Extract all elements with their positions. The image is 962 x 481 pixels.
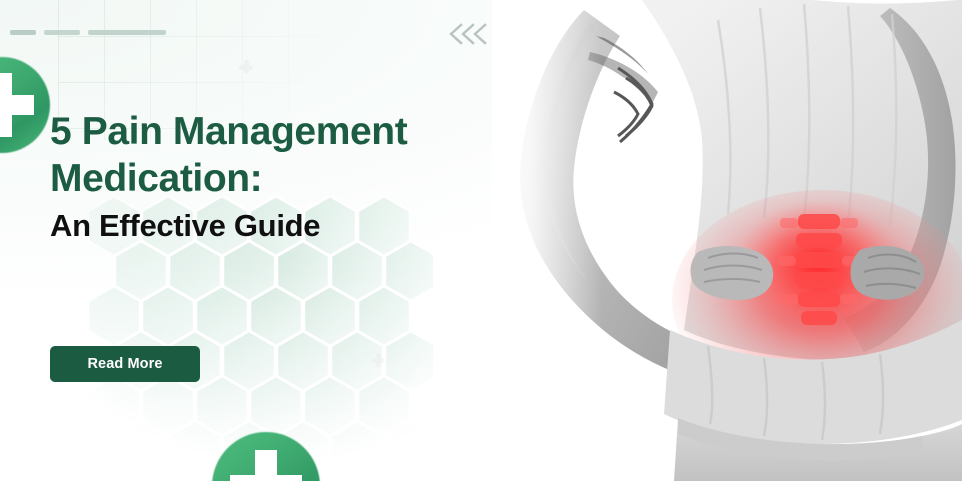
plus-icon: [371, 353, 385, 367]
cross-vertical: [255, 450, 277, 481]
read-more-button[interactable]: Read More: [50, 346, 200, 382]
plus-icon: [239, 60, 253, 74]
medical-cross-icon: [0, 57, 50, 153]
dashed-lines: [10, 29, 166, 35]
dash-icon: [10, 30, 36, 35]
cross-vertical: [0, 73, 12, 137]
dash-icon: [88, 30, 166, 35]
headline-line-1: 5 Pain Management: [50, 110, 407, 153]
medical-cross-icon: [212, 432, 320, 481]
back-pain-photo: [492, 0, 962, 481]
banner-text: 5 Pain Management Medication: An Effecti…: [50, 108, 520, 245]
headline-line-2: Medication:: [50, 157, 262, 200]
page-subtitle: An Effective Guide: [50, 207, 520, 245]
page-title: 5 Pain Management Medication:: [50, 108, 520, 202]
hero-banner: 5 Pain Management Medication: An Effecti…: [0, 0, 962, 481]
chevron-left-icon: [447, 22, 493, 46]
dash-icon: [44, 30, 80, 35]
